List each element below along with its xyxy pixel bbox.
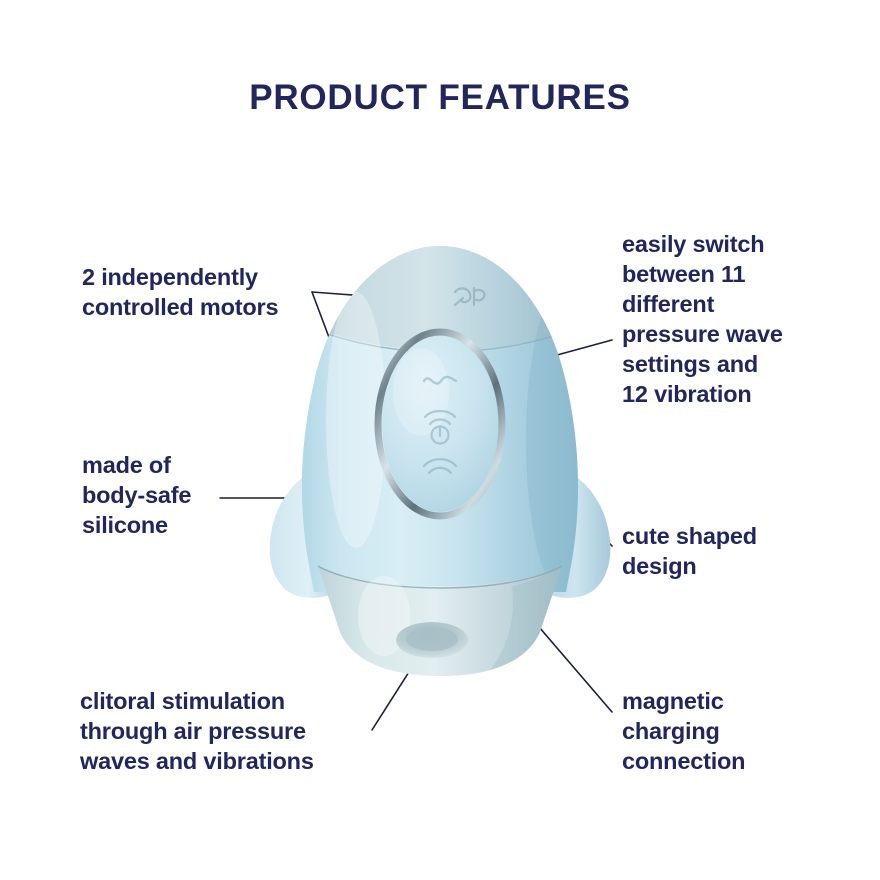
callout-silicone: made of body-safe silicone xyxy=(82,450,272,540)
callout-design: cute shaped design xyxy=(622,521,822,581)
control-panel[interactable] xyxy=(378,332,502,516)
suction-opening-inner xyxy=(406,627,458,651)
callout-motors: 2 independently controlled motors xyxy=(82,262,362,322)
callout-clitoral: clitoral stimulation through air pressur… xyxy=(80,686,380,776)
callout-settings: easily switch between 11 different press… xyxy=(622,229,822,409)
control-panel-highlight xyxy=(393,348,449,436)
product-features-infographic: PRODUCT FEATURES xyxy=(0,0,880,880)
callout-charging: magnetic charging connection xyxy=(622,686,822,776)
